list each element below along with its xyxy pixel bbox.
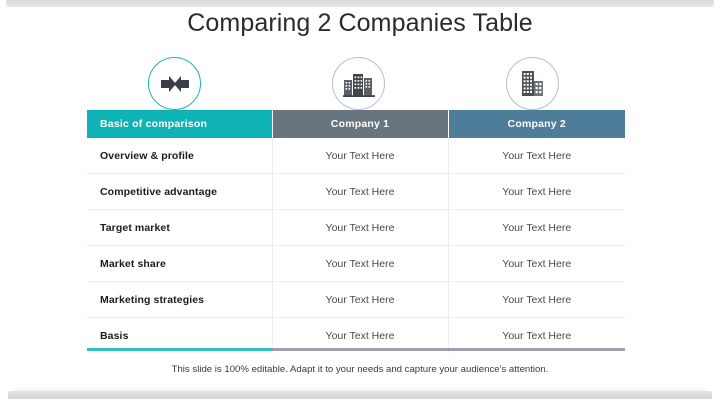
row-label: Marketing strategies: [87, 282, 272, 318]
column-header-company-1: Company 1: [272, 110, 448, 138]
office-building-icon: [506, 57, 559, 110]
cell-company-2[interactable]: Your Text Here: [448, 138, 625, 174]
cell-company-1[interactable]: Your Text Here: [272, 174, 448, 210]
table-row: Market share Your Text Here Your Text He…: [87, 246, 625, 282]
cell-company-2[interactable]: Your Text Here: [448, 282, 625, 318]
table-row: Target market Your Text Here Your Text H…: [87, 210, 625, 246]
slide-bottom-edge: [8, 391, 712, 399]
row-label: Competitive advantage: [87, 174, 272, 210]
column-header-basis: Basic of comparison: [87, 110, 272, 138]
cell-company-2[interactable]: Your Text Here: [448, 174, 625, 210]
table-row: Overview & profile Your Text Here Your T…: [87, 138, 625, 174]
column-header-company-2: Company 2: [448, 110, 625, 138]
table-bottom-rule-gray: [272, 348, 625, 351]
table-body: Overview & profile Your Text Here Your T…: [87, 138, 625, 353]
slide-top-edge: [6, 0, 714, 7]
city-buildings-icon: [332, 57, 385, 110]
row-label: Overview & profile: [87, 138, 272, 174]
table-row: Competitive advantage Your Text Here You…: [87, 174, 625, 210]
editable-note: This slide is 100% editable. Adapt it to…: [0, 364, 720, 375]
cell-company-1[interactable]: Your Text Here: [272, 210, 448, 246]
row-label: Target market: [87, 210, 272, 246]
cell-company-1[interactable]: Your Text Here: [272, 246, 448, 282]
table-row: Marketing strategies Your Text Here Your…: [87, 282, 625, 318]
cell-company-2[interactable]: Your Text Here: [448, 246, 625, 282]
row-label: Market share: [87, 246, 272, 282]
cell-company-1[interactable]: Your Text Here: [272, 138, 448, 174]
slide-canvas: Comparing 2 Companies Table: [0, 0, 720, 404]
compare-arrows-icon: [148, 57, 201, 110]
cell-company-1[interactable]: Your Text Here: [272, 282, 448, 318]
icon-row: [87, 57, 625, 115]
cell-company-2[interactable]: Your Text Here: [448, 210, 625, 246]
table-bottom-rule-teal: [87, 348, 272, 351]
page-title: Comparing 2 Companies Table: [0, 9, 720, 38]
comparison-table: Basic of comparison Company 1 Company 2 …: [87, 110, 625, 353]
table-header-row: Basic of comparison Company 1 Company 2: [87, 110, 625, 138]
